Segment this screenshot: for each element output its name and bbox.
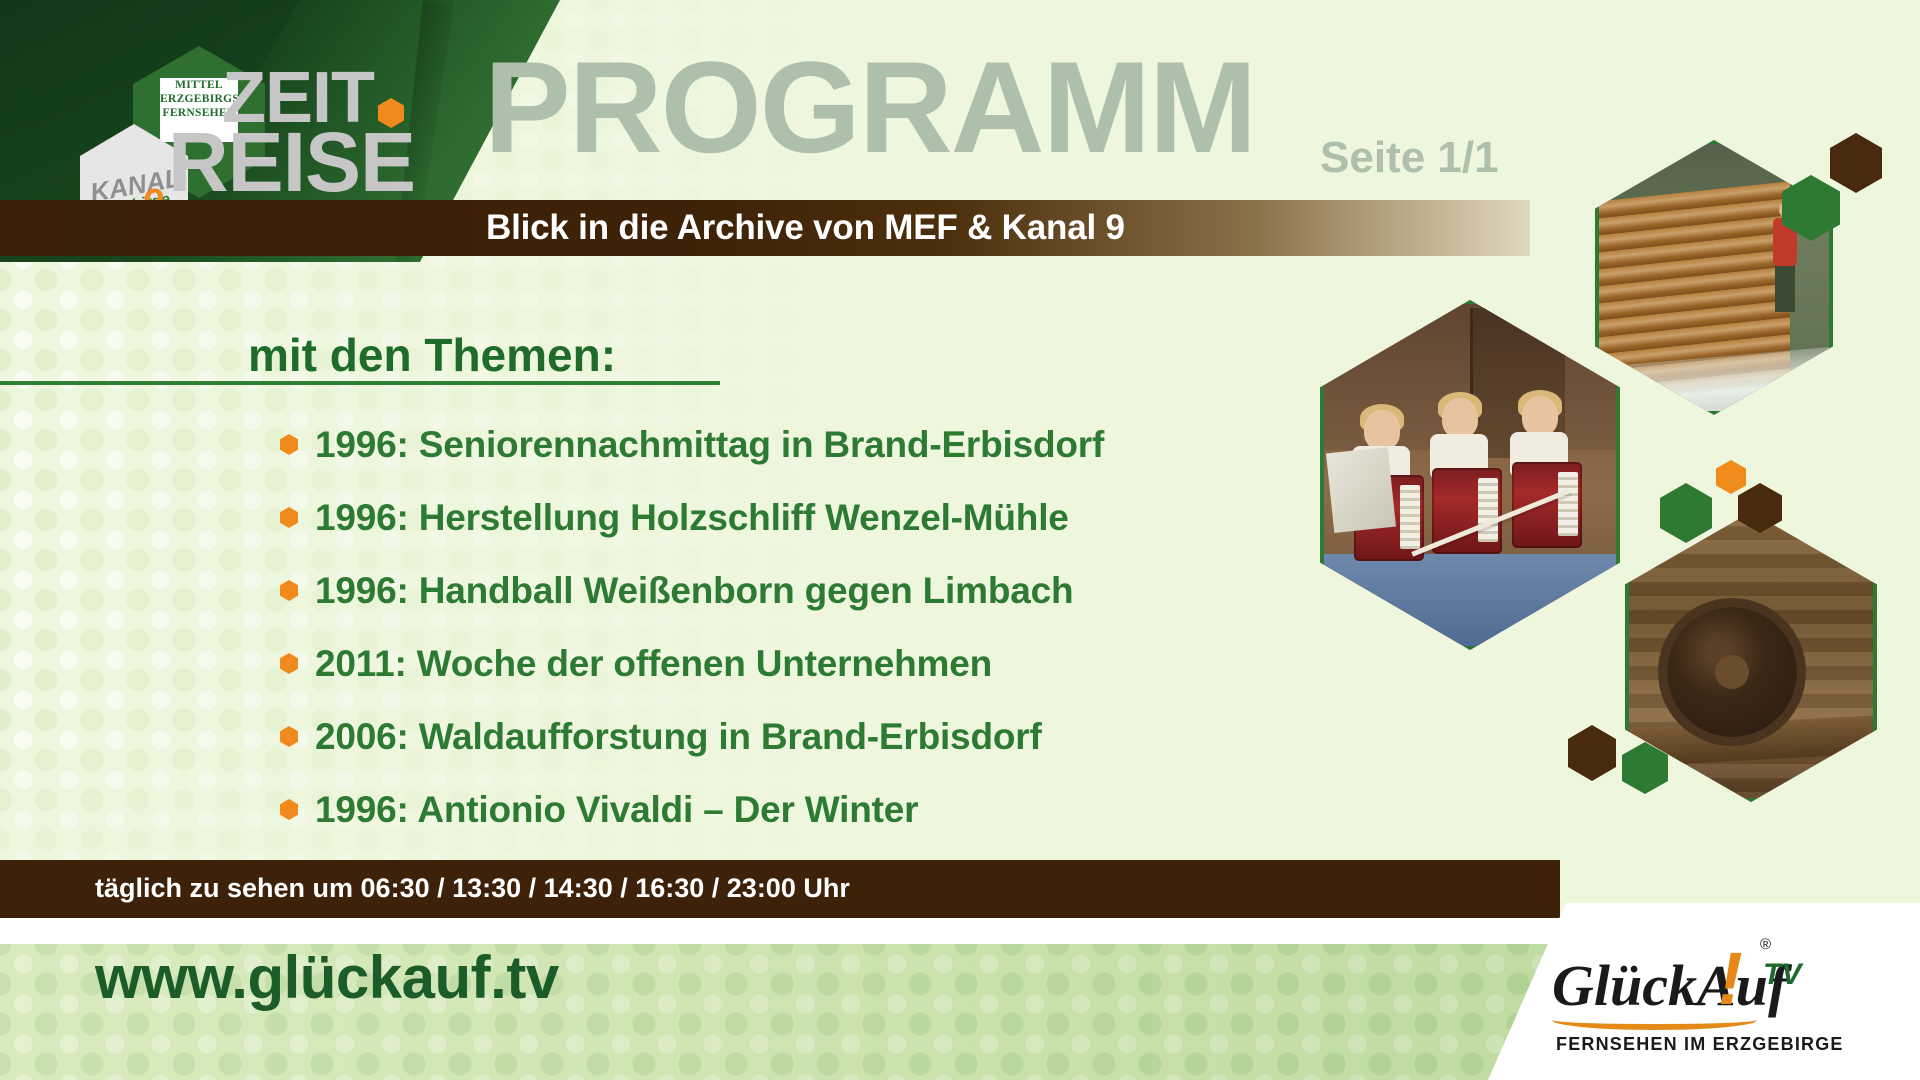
list-item-label: 1996: Herstellung Holzschliff Wenzel-Müh… [315, 497, 1069, 539]
website-url[interactable]: www.glückauf.tv [95, 943, 559, 1012]
glueckauf-logo-swoosh-icon [1552, 1010, 1757, 1030]
glueckauf-logo-name: GlückAuf [1552, 952, 1787, 1019]
section-heading: mit den Themen: [248, 328, 616, 382]
bullet-hexagon-icon [280, 507, 298, 528]
list-item: 2006: Waldaufforstung in Brand-Erbisdorf [280, 700, 1280, 773]
schedule-text: täglich zu sehen um 06:30 / 13:30 / 14:3… [95, 873, 850, 904]
programm-slide: MITTEL ERZGEBIRGS FERNSEHEN KANAL Erzgeb… [0, 0, 1920, 1080]
show-title-line-2: REISE [168, 120, 415, 204]
list-item-label: 1996: Antionio Vivaldi – Der Winter [315, 789, 918, 831]
list-item: 1996: Handball Weißenborn gegen Limbach [280, 554, 1280, 627]
glueckauf-logo-tv: TV [1763, 958, 1801, 992]
page-title: PROGRAMM [484, 42, 1255, 172]
list-item: 1996: Antionio Vivaldi – Der Winter [280, 773, 1280, 846]
list-item: 2011: Woche der offenen Unternehmen [280, 627, 1280, 700]
bullet-hexagon-icon [280, 653, 298, 674]
bullet-hexagon-icon [280, 726, 298, 747]
list-item-label: 1996: Handball Weißenborn gegen Limbach [315, 570, 1073, 612]
page-indicator: Seite 1/1 [1320, 133, 1499, 183]
topic-list: 1996: Seniorennachmittag in Brand-Erbisd… [280, 408, 1280, 846]
subtitle-text: Blick in die Archive von MEF & Kanal 9 [486, 208, 1125, 248]
glueckauf-logo-registered-mark: ® [1760, 936, 1771, 953]
glueckauf-logo-exclamation: ! [1718, 942, 1743, 1016]
glueckauf-logo-tagline: FERNSEHEN IM ERZGEBIRGE [1556, 1034, 1844, 1055]
bullet-hexagon-icon [280, 434, 298, 455]
bullet-hexagon-icon [280, 580, 298, 601]
list-item-label: 2006: Waldaufforstung in Brand-Erbisdorf [315, 716, 1042, 758]
bullet-hexagon-icon [280, 799, 298, 820]
list-item-label: 2011: Woche der offenen Unternehmen [315, 643, 992, 685]
list-item: 1996: Herstellung Holzschliff Wenzel-Müh… [280, 481, 1280, 554]
section-heading-rule [0, 381, 720, 385]
list-item-label: 1996: Seniorennachmittag in Brand-Erbisd… [315, 424, 1104, 466]
list-item: 1996: Seniorennachmittag in Brand-Erbisd… [280, 408, 1280, 481]
